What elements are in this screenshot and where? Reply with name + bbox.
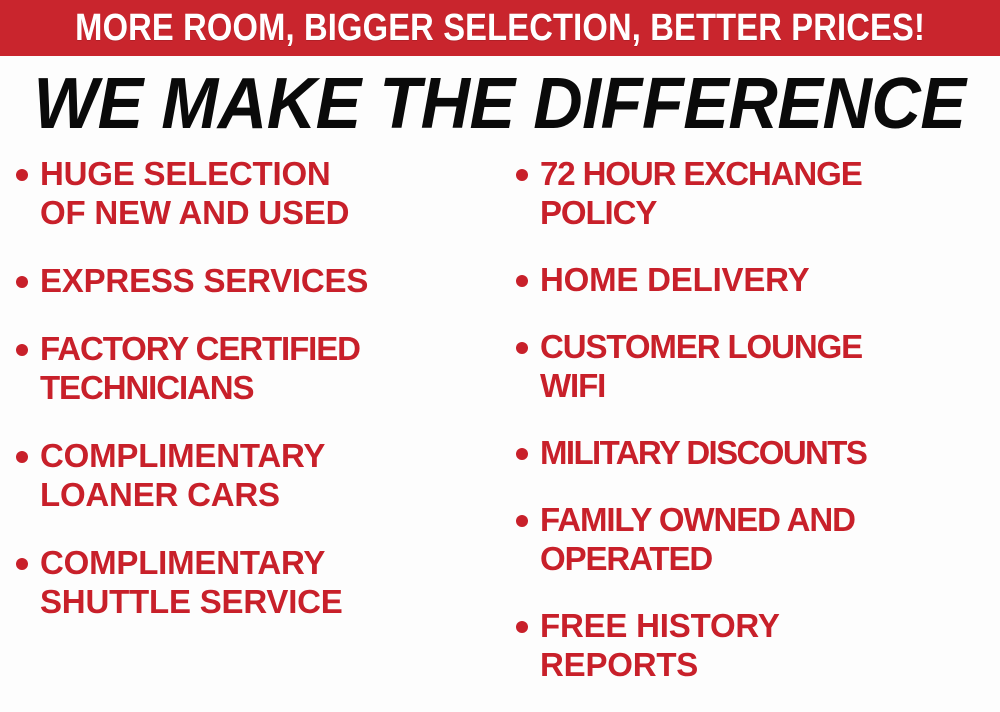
list-item: EXPRESS SERVICES (16, 261, 494, 300)
list-item: HUGE SELECTION OF NEW AND USED (16, 154, 494, 232)
list-item: COMPLIMENTARY LOANER CARS (16, 436, 494, 514)
bullet-dot-icon (16, 344, 28, 356)
bullet-dot-icon (16, 169, 28, 181)
bullet-dot-icon (516, 275, 528, 287)
bullet-dot-icon (516, 515, 528, 527)
benefits-columns: HUGE SELECTION OF NEW AND USED EXPRESS S… (0, 154, 1000, 694)
list-item: CUSTOMER LOUNGE WIFI (516, 327, 996, 405)
list-item-label: COMPLIMENTARY LOANER CARS (40, 436, 325, 514)
list-item-label: HOME DELIVERY (540, 260, 809, 299)
list-item-label: FACTORY CERTIFIED TECHNICIANS (40, 329, 360, 407)
list-item-label: FAMILY OWNED AND OPERATED (540, 500, 855, 578)
benefits-column-left: HUGE SELECTION OF NEW AND USED EXPRESS S… (0, 154, 500, 650)
bullet-dot-icon (16, 451, 28, 463)
bullet-dot-icon (16, 276, 28, 288)
list-item-label: COMPLIMENTARY SHUTTLE SERVICE (40, 543, 343, 621)
bullet-dot-icon (516, 448, 528, 460)
advertisement-graphic: MORE ROOM, BIGGER SELECTION, BETTER PRIC… (0, 0, 1000, 694)
list-item: 72 HOUR EXCHANGE POLICY (516, 154, 996, 232)
list-item: FREE HISTORY REPORTS (516, 606, 996, 684)
bullet-dot-icon (16, 558, 28, 570)
list-item-label: HUGE SELECTION OF NEW AND USED (40, 154, 349, 232)
list-item: FAMILY OWNED AND OPERATED (516, 500, 996, 578)
list-item: HOME DELIVERY (516, 260, 996, 299)
bullet-dot-icon (516, 342, 528, 354)
list-item: FACTORY CERTIFIED TECHNICIANS (16, 329, 494, 407)
headline-text: WE MAKE THE DIFFERENCE (34, 68, 966, 140)
list-item-label: MILITARY DISCOUNTS (540, 433, 866, 472)
bullet-dot-icon (516, 621, 528, 633)
benefits-column-right: 72 HOUR EXCHANGE POLICY HOME DELIVERY CU… (500, 154, 1000, 712)
top-banner-text: MORE ROOM, BIGGER SELECTION, BETTER PRIC… (75, 9, 925, 47)
list-item-label: EXPRESS SERVICES (40, 261, 368, 300)
list-item: MILITARY DISCOUNTS (516, 433, 996, 472)
list-item-label: CUSTOMER LOUNGE WIFI (540, 327, 862, 405)
list-item-label: 72 HOUR EXCHANGE POLICY (540, 154, 862, 232)
headline: WE MAKE THE DIFFERENCE (0, 62, 1000, 146)
list-item-label: FREE HISTORY REPORTS (540, 606, 780, 684)
top-banner: MORE ROOM, BIGGER SELECTION, BETTER PRIC… (0, 0, 1000, 56)
list-item: COMPLIMENTARY SHUTTLE SERVICE (16, 543, 494, 621)
bullet-dot-icon (516, 169, 528, 181)
